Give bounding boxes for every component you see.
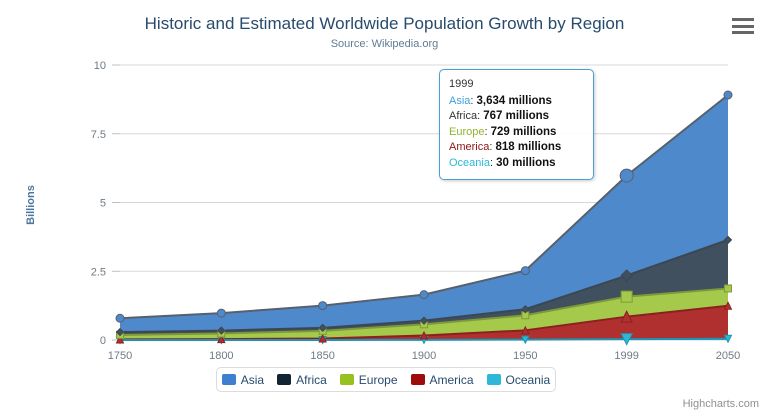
tooltip-header: 1999 <box>449 77 584 93</box>
legend-item-oceania[interactable]: Oceania <box>487 373 551 387</box>
x-axis-label: 1750 <box>108 350 132 362</box>
marker-europe-1999[interactable] <box>621 291 632 302</box>
x-axis-label: 1850 <box>310 350 334 362</box>
chart-tooltip: 1999 Asia: 3,634 millionsAfrica: 767 mil… <box>439 69 594 180</box>
y-axis-tick-labels: 02.557.510 <box>91 60 106 347</box>
x-axis-label: 2050 <box>716 350 740 362</box>
marker-europe-2050[interactable] <box>725 285 732 292</box>
tooltip-series-name: Africa <box>449 110 477 122</box>
tooltip-series-value: 767 millions <box>483 110 549 122</box>
tooltip-series-name: Europe <box>449 126 484 138</box>
y-axis-label: 10 <box>94 60 106 72</box>
tooltip-row: Asia: 3,634 millions <box>449 94 584 110</box>
y-axis-label: 5 <box>100 198 106 210</box>
tooltip-series-name: Oceania <box>449 157 490 169</box>
legend-label: Europe <box>359 373 398 387</box>
legend-item-africa[interactable]: Africa <box>277 373 327 387</box>
tooltip-row: Oceania: 30 millions <box>449 156 584 172</box>
x-axis-label: 1950 <box>513 350 537 362</box>
tooltip-series-name: Asia <box>449 95 470 107</box>
x-axis-label: 1800 <box>209 350 233 362</box>
y-axis-title: Billions <box>25 185 37 225</box>
chart-legend: AsiaAfricaEuropeAmericaOceania <box>216 367 556 392</box>
marker-asia-2050[interactable] <box>724 91 732 99</box>
marker-asia-1750[interactable] <box>116 314 124 322</box>
legend-item-europe[interactable]: Europe <box>340 373 398 387</box>
legend-swatch-icon <box>340 374 354 385</box>
legend-swatch-icon <box>487 374 501 385</box>
tooltip-series-name: America <box>449 141 489 153</box>
tooltip-row: America: 818 millions <box>449 140 584 156</box>
y-axis-label: 7.5 <box>91 129 106 141</box>
tooltip-rows: Asia: 3,634 millionsAfrica: 767 millions… <box>449 94 584 172</box>
legend-item-america[interactable]: America <box>411 373 474 387</box>
tooltip-series-value: 30 millions <box>496 157 555 169</box>
legend-label: Oceania <box>506 373 551 387</box>
x-axis-tick-labels: 1750180018501900195019992050 <box>108 350 740 362</box>
tooltip-series-value: 3,634 millions <box>477 95 552 107</box>
legend-swatch-icon <box>222 374 236 385</box>
y-axis-label: 0 <box>100 335 106 347</box>
legend-label: Asia <box>241 373 264 387</box>
plot-area: 02.557.510 1750180018501900195019992050 … <box>0 0 769 416</box>
legend-swatch-icon <box>411 374 425 385</box>
legend-label: America <box>430 373 474 387</box>
legend-label: Africa <box>296 373 327 387</box>
highcharts-credits[interactable]: Highcharts.com <box>683 398 759 410</box>
marker-asia-1900[interactable] <box>420 291 428 299</box>
highcharts-container: Historic and Estimated Worldwide Populat… <box>0 0 769 416</box>
marker-asia-1999[interactable] <box>620 169 633 182</box>
y-axis-title-text: Billions <box>25 185 37 225</box>
tooltip-series-value: 729 millions <box>491 126 557 138</box>
series-areas <box>120 95 728 340</box>
marker-asia-1800[interactable] <box>217 309 225 317</box>
marker-asia-1950[interactable] <box>521 267 529 275</box>
marker-asia-1850[interactable] <box>319 302 327 310</box>
x-axis-label: 1900 <box>412 350 436 362</box>
tooltip-series-value: 818 millions <box>495 141 561 153</box>
x-axis-label: 1999 <box>614 350 638 362</box>
tooltip-row: Europe: 729 millions <box>449 125 584 141</box>
y-axis-label: 2.5 <box>91 266 106 278</box>
legend-swatch-icon <box>277 374 291 385</box>
legend-item-asia[interactable]: Asia <box>222 373 264 387</box>
tooltip-row: Africa: 767 millions <box>449 109 584 125</box>
